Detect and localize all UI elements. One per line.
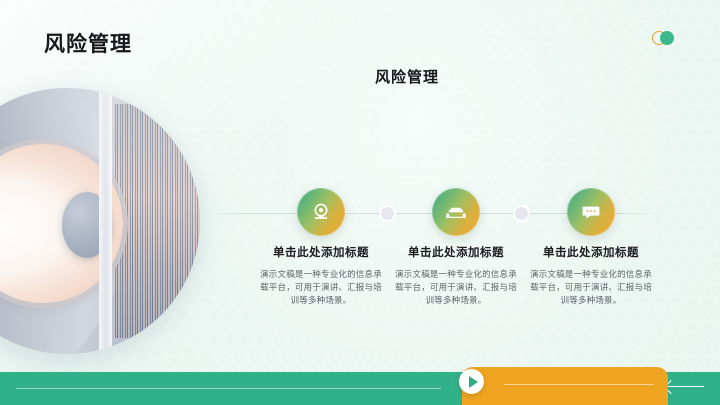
logo-dot-icon [660, 31, 674, 45]
play-button[interactable] [459, 369, 484, 394]
play-icon [469, 376, 478, 388]
decorative-image [0, 88, 200, 354]
timeline-item-body: 演示文稿是一种专业化的信息承载平台，可用于演讲、汇报与培训等多种场景。 [515, 268, 667, 307]
timeline-item-1[interactable]: 单击此处添加标题 演示文稿是一种专业化的信息承载平台，可用于演讲、汇报与培训等多… [245, 188, 397, 307]
timeline-item-body: 演示文稿是一种专业化的信息承载平台，可用于演讲、汇报与培训等多种场景。 [380, 268, 532, 307]
chat-bubble-icon[interactable] [567, 188, 615, 236]
progress-segment[interactable] [462, 367, 668, 405]
timeline-item-3[interactable]: 单击此处添加标题 演示文稿是一种专业化的信息承载平台，可用于演讲、汇报与培训等多… [515, 188, 667, 307]
slide-title: 风险管理 [44, 28, 132, 58]
section-title: 风险管理 [0, 66, 720, 87]
sofa-icon[interactable] [432, 188, 480, 236]
slide-canvas: 风险管理 风险管理 单击此处添加标题 演示文稿是一种专业化的信息 [0, 0, 720, 405]
progress-segment-rule [504, 384, 654, 385]
timeline-item-body: 演示文稿是一种专业化的信息承载平台，可用于演讲、汇报与培训等多种场景。 [245, 268, 397, 307]
back-arrow-icon[interactable] [666, 381, 704, 393]
webcam-icon[interactable] [297, 188, 345, 236]
logo-mark [652, 30, 678, 46]
image-layer-glow [0, 88, 200, 354]
timeline-item-title: 单击此处添加标题 [245, 246, 397, 261]
timeline-item-2[interactable]: 单击此处添加标题 演示文稿是一种专业化的信息承载平台，可用于演讲、汇报与培训等多… [380, 188, 532, 307]
timeline-item-title: 单击此处添加标题 [380, 246, 532, 261]
bottom-bar-rule [16, 388, 441, 389]
section-title-text: 风险管理 [375, 66, 439, 87]
timeline-item-title: 单击此处添加标题 [515, 246, 667, 261]
